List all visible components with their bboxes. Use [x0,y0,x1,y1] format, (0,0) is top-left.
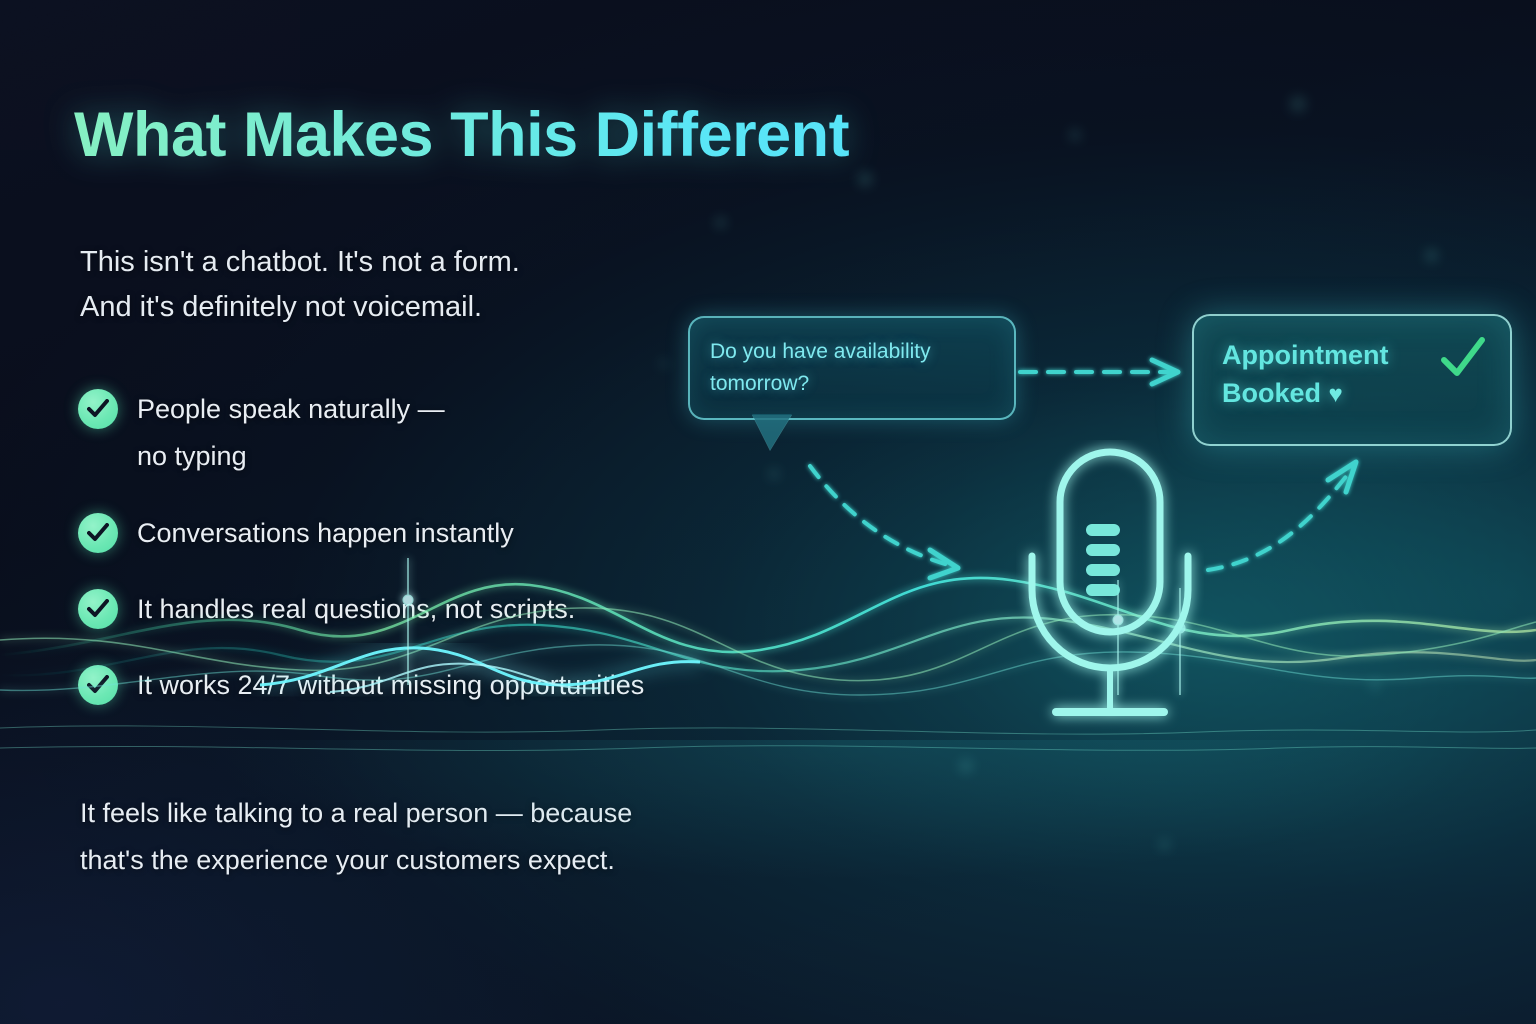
mic-to-card-arrow [1208,462,1356,570]
check-circle-icon [78,389,118,429]
bubble-to-mic-arrow [810,466,958,578]
bullet-1-line-2: no typing [137,441,247,471]
flow-arrows [600,0,1536,1024]
list-item-label: People speak naturally — no typing [137,386,445,480]
voice-ai-illustration: Do you have availability tomorrow? Appoi… [600,0,1536,1024]
bubble-to-card-arrow [1020,360,1178,384]
bullet-1-line-1: People speak naturally — [137,394,445,424]
slide-canvas: What Makes This Different This isn't a c… [0,0,1536,1024]
